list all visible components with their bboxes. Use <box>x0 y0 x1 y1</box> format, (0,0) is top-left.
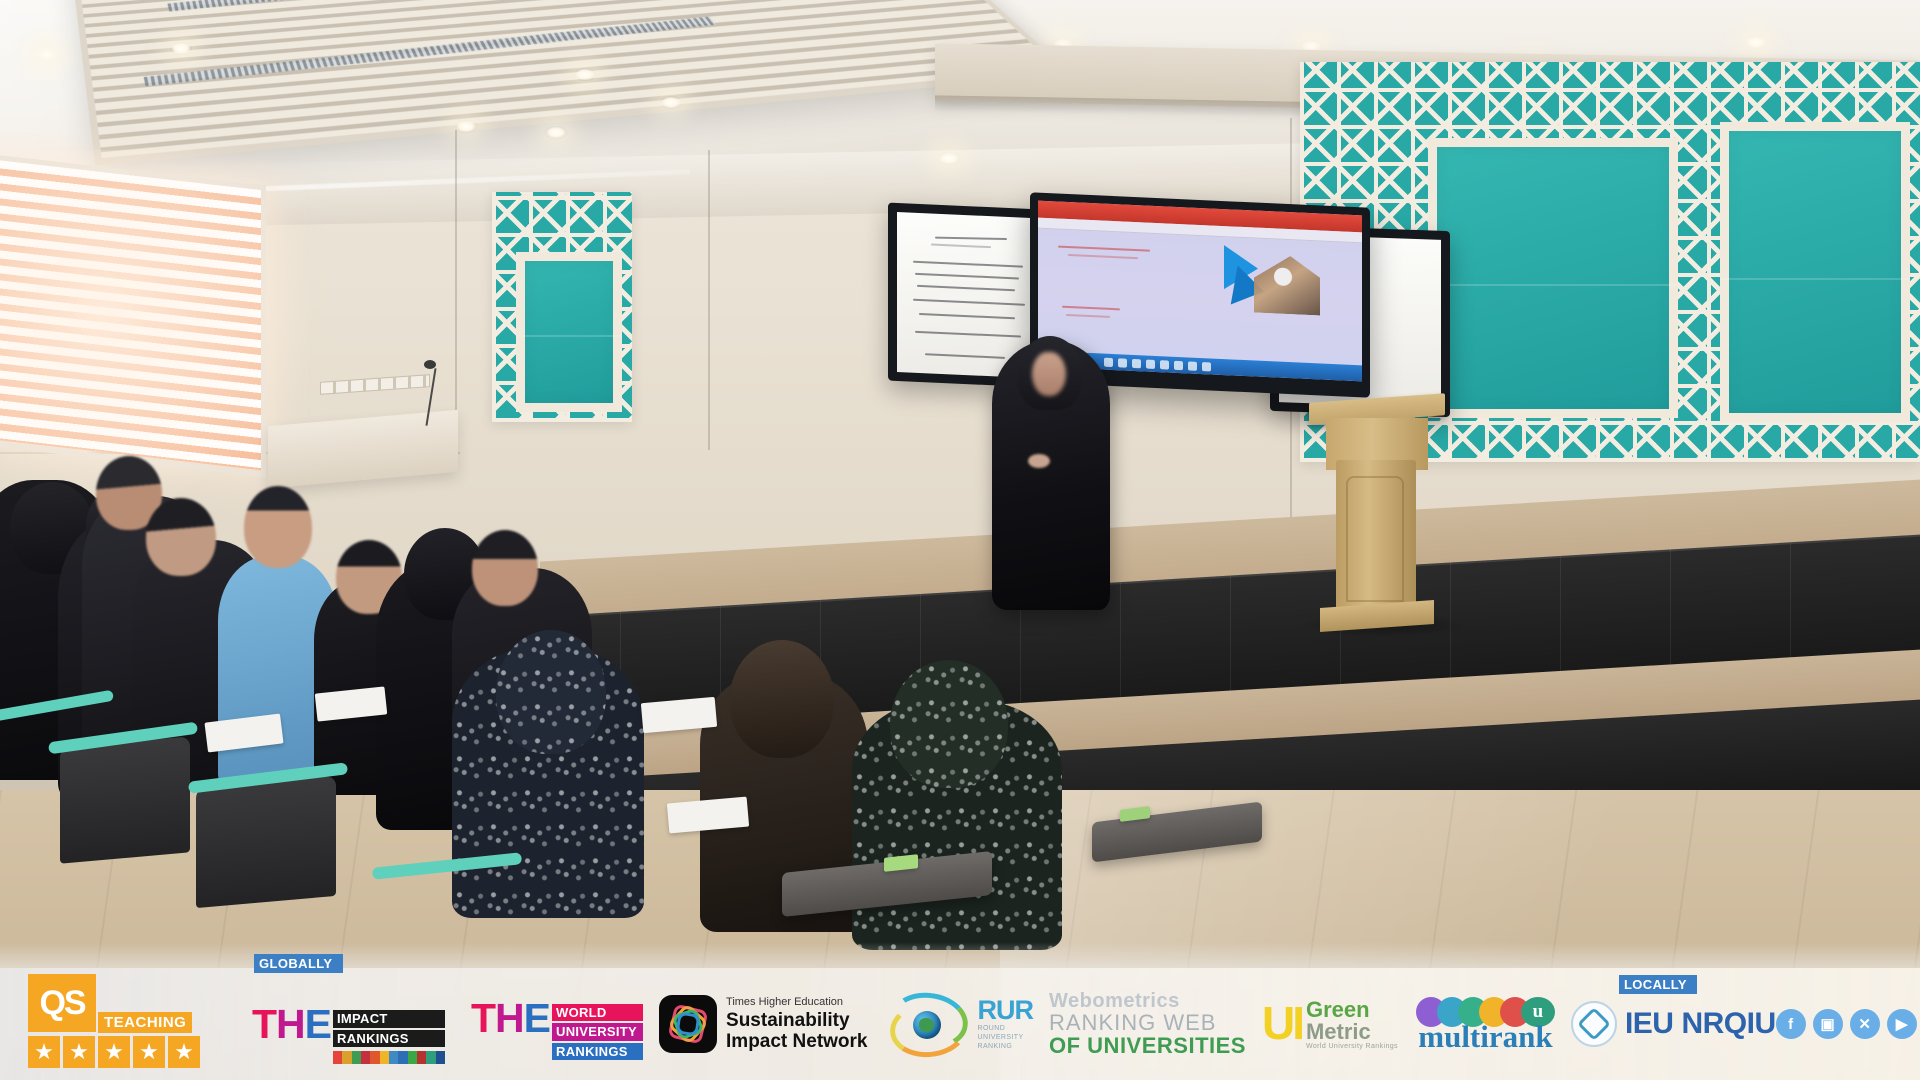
social-media-row: f ▣ ✕ ▶ ◎ in ♪ alkafeeleduiq <box>1776 1004 1920 1044</box>
locally-badge: LOCALLY <box>1619 975 1697 994</box>
downlight <box>574 68 596 81</box>
youtube-icon[interactable]: ▶ <box>1887 1009 1917 1039</box>
taskbar-item[interactable] <box>1118 358 1127 367</box>
uigm-tagline: World University Rankings <box>1306 1043 1398 1050</box>
qs-star: ★ <box>98 1036 130 1068</box>
handwriting-line <box>917 285 1015 291</box>
the-world-line: UNIVERSITY <box>552 1023 643 1040</box>
sin-eyebrow: Times Higher Education <box>726 996 867 1010</box>
rur-mark: RUR <box>978 997 1034 1024</box>
webometrics-title: Webometrics <box>1049 991 1246 1011</box>
handwriting-line <box>931 244 991 249</box>
lecture-hall-scene <box>0 0 1920 1080</box>
multirank-name: multirank <box>1418 1019 1552 1054</box>
x-icon[interactable]: ✕ <box>1850 1009 1880 1039</box>
taskbar-item[interactable] <box>1160 360 1169 369</box>
mashrabiya-panel-left <box>492 192 632 422</box>
u-multirank-logo: u multirank <box>1416 997 1555 1052</box>
rur-globe-icon <box>913 1011 941 1039</box>
rur-sub1: ROUND <box>978 1024 1034 1033</box>
taskbar-item[interactable] <box>1132 359 1141 368</box>
the-world-line: WORLD <box>552 1004 643 1021</box>
the-mark: THE <box>252 1006 331 1044</box>
facebook-icon[interactable]: f <box>1776 1009 1806 1039</box>
audience-head <box>146 498 216 576</box>
rur-sub3: RANKING <box>978 1042 1034 1051</box>
downlight <box>545 126 567 139</box>
handwriting-line <box>913 261 1023 268</box>
microphone-head <box>424 360 436 369</box>
wall-seam <box>708 150 710 450</box>
qs-mark-text: QS <box>39 986 84 1020</box>
rur-sub2: UNIVERSITY <box>978 1033 1034 1042</box>
handwriting-line <box>913 299 1025 306</box>
slide-text-line <box>1068 254 1138 259</box>
audience-headscarf-patterned <box>890 660 1008 788</box>
uigm-word1: Green <box>1306 999 1398 1021</box>
presenter-hand <box>1028 454 1050 468</box>
taskbar-item[interactable] <box>1146 360 1155 369</box>
webometrics-line1: RANKING WEB <box>1049 1011 1246 1034</box>
podium-panel <box>1346 476 1404 602</box>
the-impact-line: IMPACT <box>333 1010 445 1027</box>
rur-eye-icon <box>886 995 972 1053</box>
downlight <box>170 42 192 55</box>
chair <box>196 776 336 908</box>
uigm-word2: Metric <box>1306 1021 1398 1043</box>
qs-star: ★ <box>168 1036 200 1068</box>
ieu-seal-icon <box>1571 1001 1617 1047</box>
webometrics-logo: Webometrics RANKING WEB OF UNIVERSITIES <box>1049 991 1246 1057</box>
downlight <box>455 120 477 133</box>
the-world-line: RANKINGS <box>552 1043 643 1060</box>
audience-head <box>472 530 538 606</box>
slide-text-line <box>1062 306 1120 311</box>
downlight <box>1745 36 1767 49</box>
podium <box>1318 398 1436 628</box>
audience-head <box>244 486 312 568</box>
handwriting-line <box>935 237 1007 240</box>
slide-text-line <box>1058 246 1150 252</box>
qs-mark: QS <box>28 974 96 1032</box>
teal-acoustic-panel <box>1720 122 1910 422</box>
screenshot-root: QS TEACHING ★ ★ ★ ★ ★ GLOBALLY THE IMPAC… <box>0 0 1920 1080</box>
downlight <box>938 152 960 165</box>
the-impact-rankings-logo: GLOBALLY THE IMPACT RANKINGS <box>252 984 445 1064</box>
ieu-name: IEU <box>1625 1007 1674 1041</box>
qs-star-row: ★ ★ ★ ★ ★ <box>28 1036 200 1068</box>
webometrics-line2: OF UNIVERSITIES <box>1049 1034 1246 1057</box>
nrqiu-name: NRQIU <box>1681 1007 1775 1040</box>
the-impact-line: RANKINGS <box>333 1030 445 1047</box>
downlight <box>660 96 682 109</box>
ui-greenmetric-logo: UI Green Metric World University Ranking… <box>1262 999 1398 1050</box>
accreditation-logo-bar: QS TEACHING ★ ★ ★ ★ ★ GLOBALLY THE IMPAC… <box>0 968 1920 1080</box>
sin-line1: Sustainability <box>726 1010 867 1031</box>
ieu-nrqiu-logos: LOCALLY IEU NRQIU <box>1571 1001 1776 1047</box>
the-color-strip <box>333 1051 445 1064</box>
taskbar-item[interactable] <box>1174 361 1183 370</box>
slide-emblem <box>1274 267 1292 286</box>
qs-star: ★ <box>63 1036 95 1068</box>
instagram-icon[interactable]: ▣ <box>1813 1009 1843 1039</box>
presenter <box>992 318 1110 610</box>
qs-star: ★ <box>28 1036 60 1068</box>
globally-badge: GLOBALLY <box>254 954 343 973</box>
downlight <box>36 48 58 61</box>
teal-acoustic-panel <box>1428 138 1678 418</box>
rur-logo: RUR ROUND UNIVERSITY RANKING <box>886 995 1034 1053</box>
sin-line2: Impact Network <box>726 1031 867 1052</box>
audience-headscarf-patterned <box>496 630 606 754</box>
chair <box>60 736 190 863</box>
teal-acoustic-panel <box>516 252 622 412</box>
qs-stars-logo: QS TEACHING ★ ★ ★ ★ ★ <box>14 972 214 1076</box>
the-world-university-rankings-logo: THE WORLD UNIVERSITY RANKINGS <box>471 988 643 1060</box>
qs-star: ★ <box>133 1036 165 1068</box>
presenter-face <box>1032 352 1066 396</box>
the-mark: THE <box>471 1000 550 1038</box>
qs-category-label: TEACHING <box>98 1012 192 1033</box>
uigm-mark: UI <box>1262 1004 1302 1043</box>
sin-icon <box>659 995 717 1053</box>
handout-paper <box>641 697 717 733</box>
taskbar-item[interactable] <box>1202 362 1211 371</box>
audience-headscarf <box>730 640 834 758</box>
sustainability-impact-network-logo: Times Higher Education Sustainability Im… <box>659 995 867 1053</box>
handwriting-line <box>915 273 1019 280</box>
taskbar-item[interactable] <box>1188 361 1197 370</box>
window-frame <box>0 155 266 478</box>
